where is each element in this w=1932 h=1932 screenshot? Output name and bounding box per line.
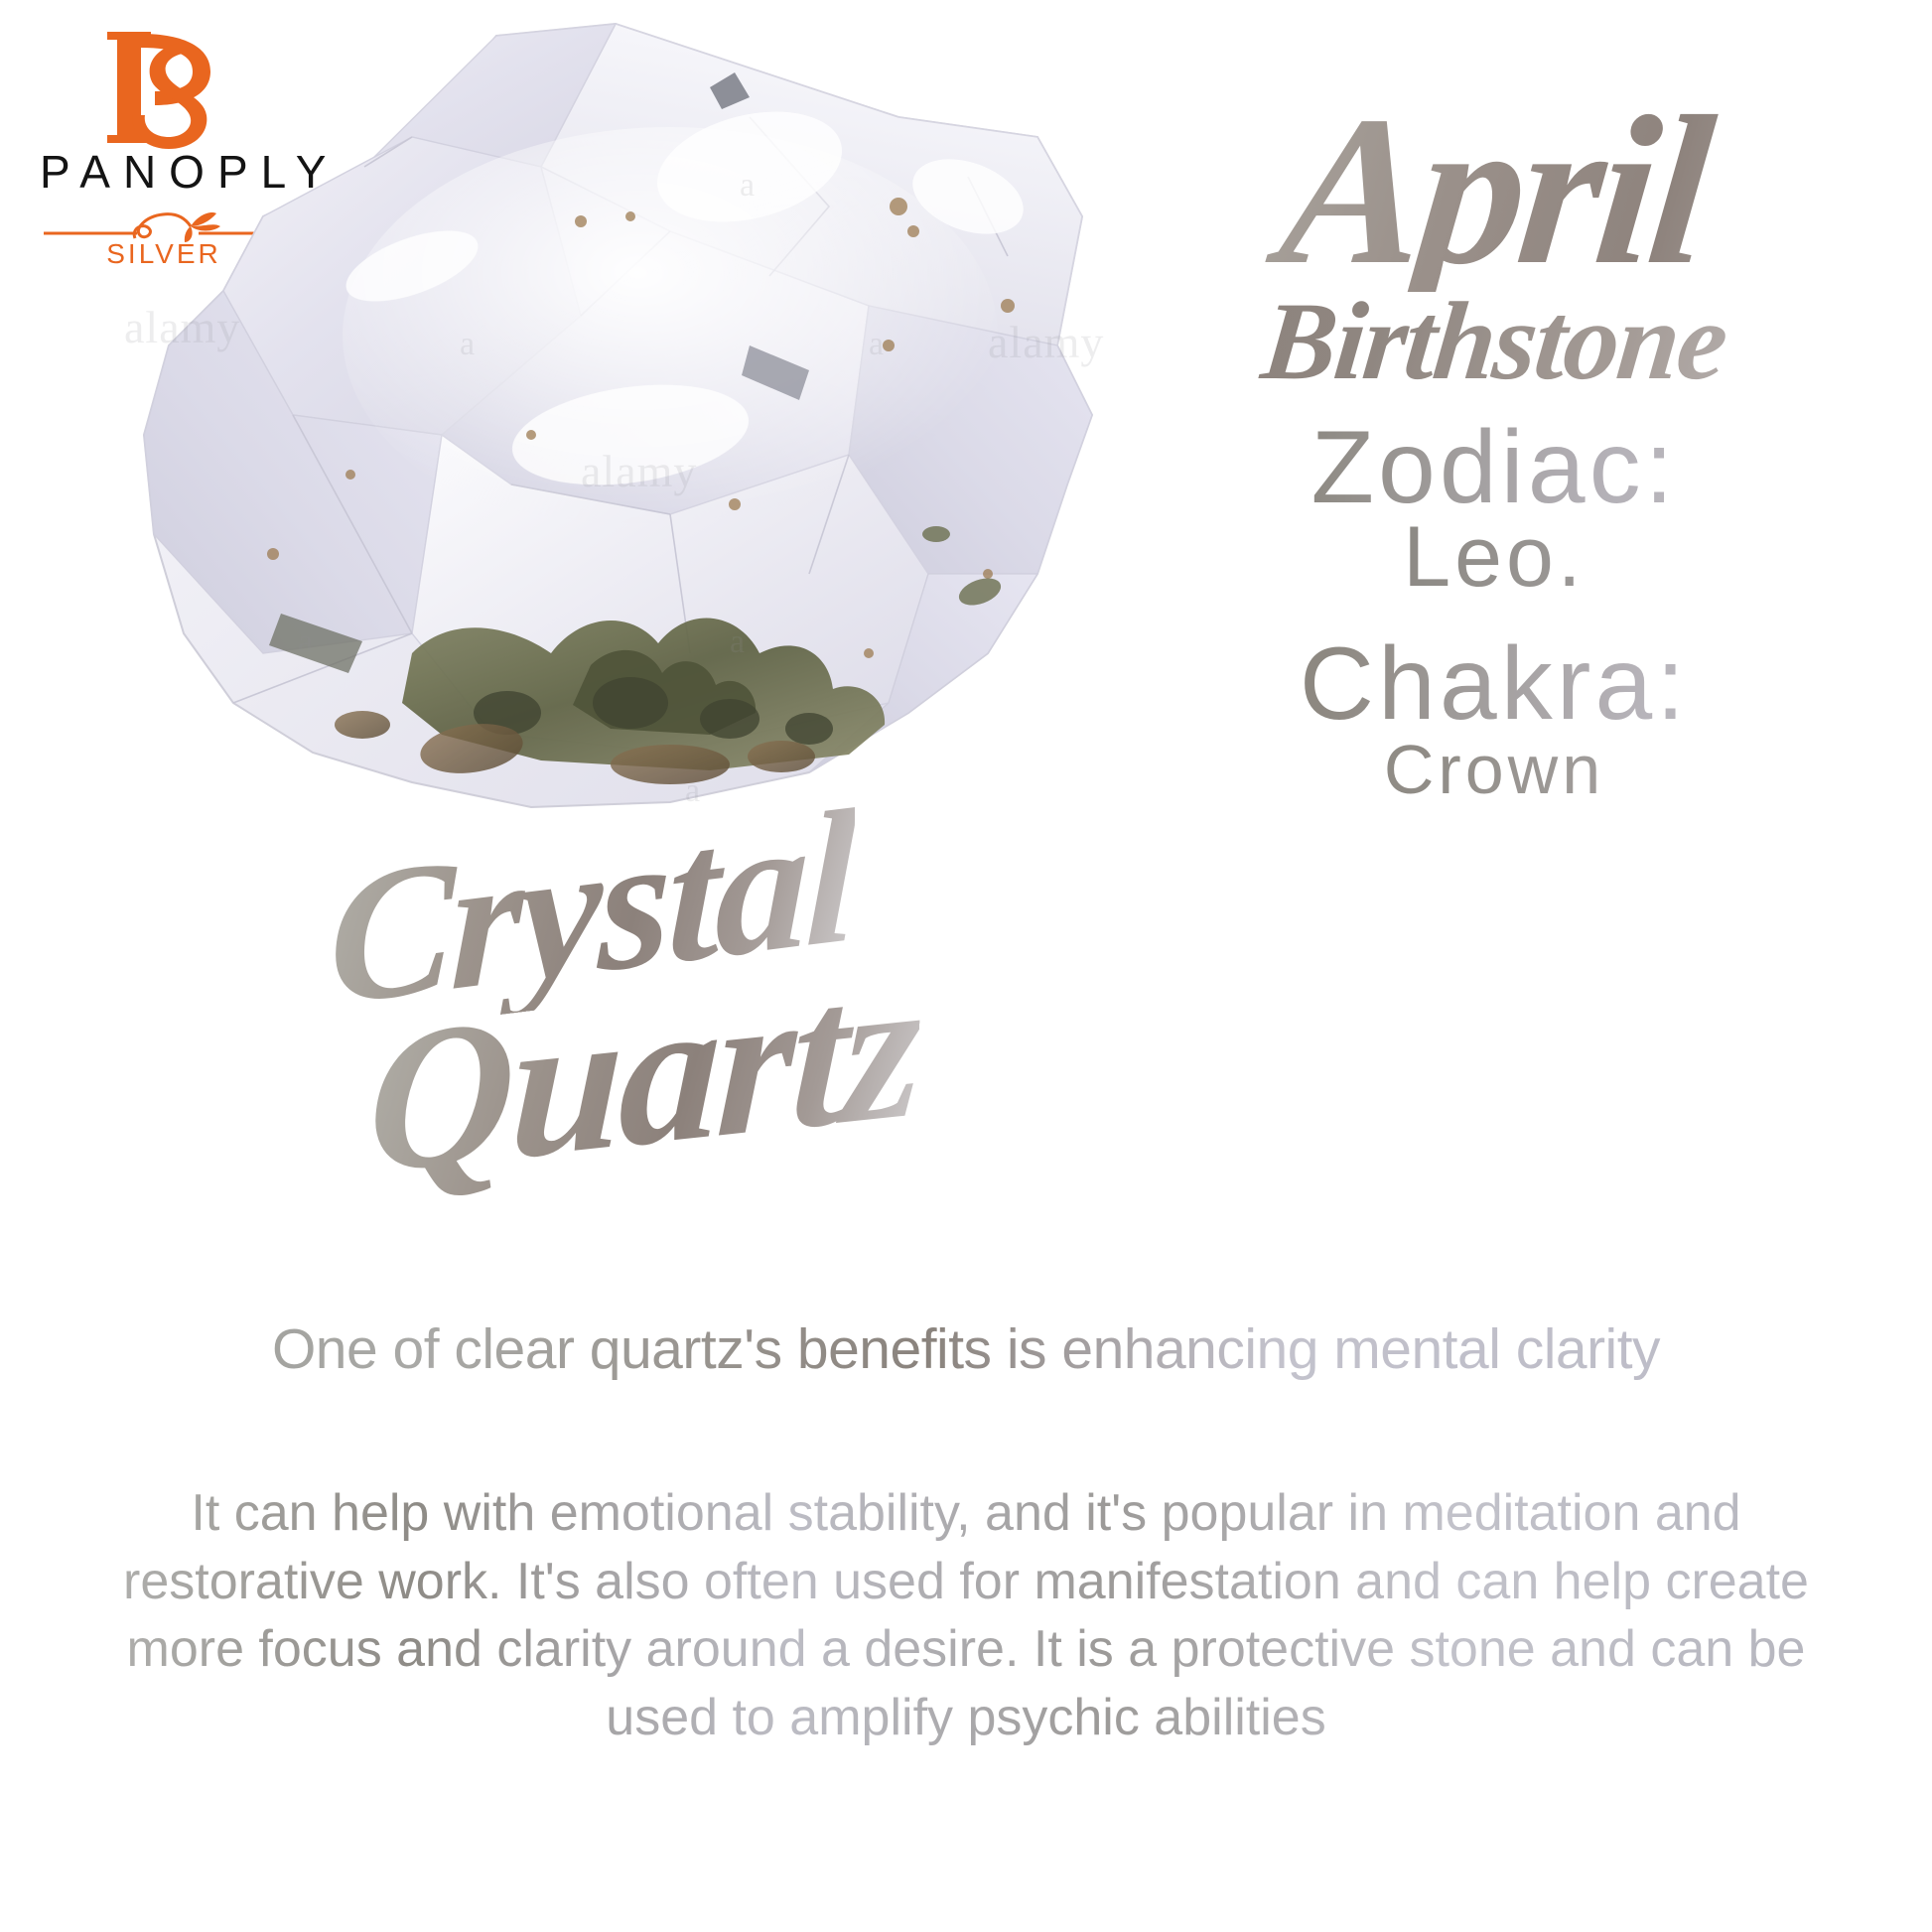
stone-name-line-2: Quartz: [365, 943, 922, 1206]
stone-name: Crystal Quartz: [328, 814, 1201, 1231]
benefit-tagline: One of clear quartz's benefits is enhanc…: [0, 1316, 1932, 1382]
zodiac-label: Zodiac:: [1072, 415, 1916, 520]
description-paragraph: It can help with emotional stability, an…: [109, 1479, 1823, 1752]
category-title: Birthstone: [1066, 286, 1922, 397]
month-title: April: [1061, 89, 1926, 292]
chakra-value: Crown: [1072, 735, 1916, 805]
crystal-quartz-image: alamy a a alamy a a a alamy a: [114, 18, 1117, 842]
zodiac-value: Leo.: [1072, 514, 1916, 602]
birthstone-info-panel: April Birthstone Zodiac: Leo. Chakra: Cr…: [1072, 89, 1916, 806]
chakra-label: Chakra:: [1072, 631, 1916, 737]
